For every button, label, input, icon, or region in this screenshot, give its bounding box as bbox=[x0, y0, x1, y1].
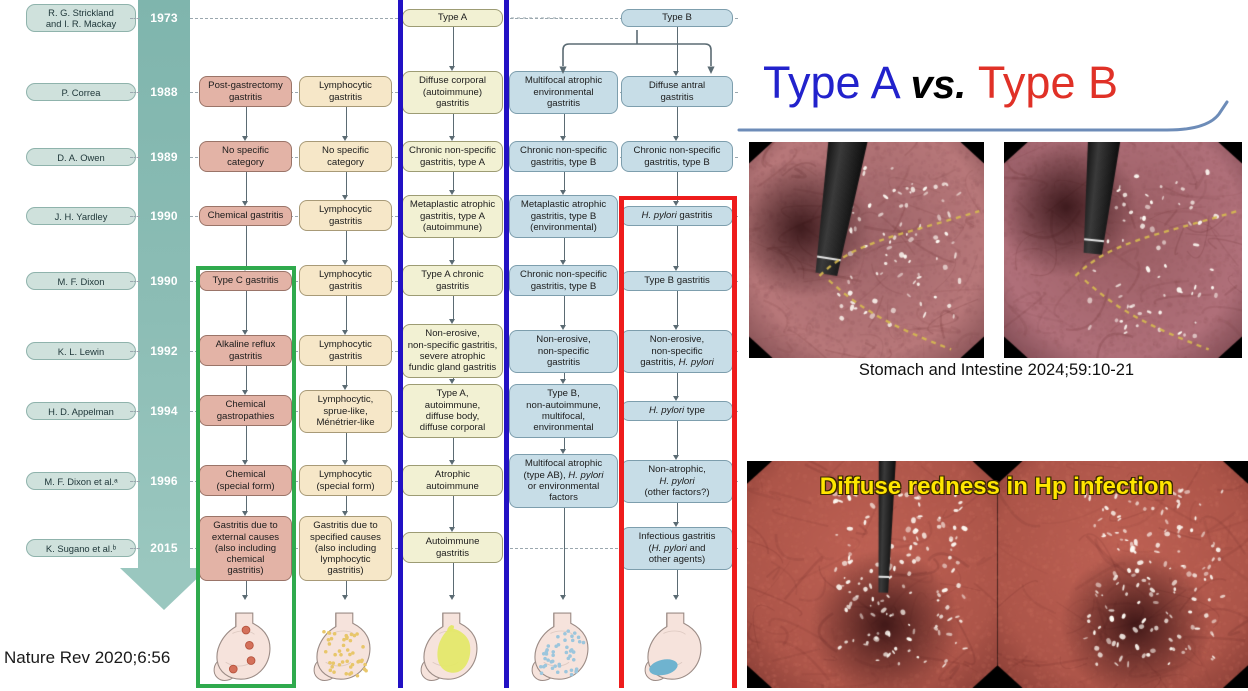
flow-box-label: Chronic non-specificgastritis, type B bbox=[520, 269, 607, 291]
flow-arrow-head bbox=[342, 511, 348, 516]
flow-arrow-head bbox=[560, 260, 566, 265]
dash-connector-left-6 bbox=[130, 351, 140, 352]
flow-arrow bbox=[564, 438, 565, 449]
flow-box-lymphocytic-8[interactable]: Lymphocytic(special form) bbox=[299, 465, 392, 496]
flow-box-label: Gastritis due tospecified causes(also in… bbox=[310, 520, 381, 576]
flow-box-lymphocytic-4[interactable]: Lymphocyticgastritis bbox=[299, 200, 392, 231]
timeline-year-9: 2015 bbox=[138, 541, 190, 555]
flow-arrow-head bbox=[560, 136, 566, 141]
flow-box-label: No specificcategory bbox=[222, 145, 269, 167]
flow-arrow-to-stomach bbox=[346, 581, 347, 595]
type-b-branch-connector bbox=[0, 0, 745, 80]
flow-box-label: Multifocal atrophic(type AB), H. pylorio… bbox=[524, 458, 604, 503]
stomach-multifocal-blue-dots bbox=[518, 608, 610, 686]
timeline-author-9: K. Sugano et al.ᵇ bbox=[26, 539, 136, 557]
timeline-year-8: 1996 bbox=[138, 474, 190, 488]
timeline-author-2: P. Correa bbox=[26, 83, 136, 101]
flow-box-label: Multifocal atrophicenvironmentalgastriti… bbox=[525, 75, 602, 109]
title-block: Type A vs. Type B bbox=[745, 56, 1248, 118]
flow-box-type-b-environmental-6[interactable]: Non-erosive,non-specificgastritis bbox=[509, 330, 618, 373]
flow-box-label: No specificcategory bbox=[322, 145, 369, 167]
flow-box-label: Non-erosive,non-specificgastritis bbox=[536, 334, 590, 368]
highlight-frame-navy bbox=[398, 0, 509, 688]
endoscopy-image-type-a-right bbox=[1004, 142, 1242, 358]
flow-arrow-head bbox=[242, 201, 248, 206]
flow-box-lymphocytic-7[interactable]: Lymphocytic,sprue-like,Ménétrier-like bbox=[299, 390, 392, 433]
flow-box-label: Lymphocytic,sprue-like,Ménétrier-like bbox=[316, 394, 374, 428]
timeline-author-4: J. H. Yardley bbox=[26, 207, 136, 225]
flow-box-lymphocytic-3[interactable]: No specificcategory bbox=[299, 141, 392, 172]
flow-box-type-b-environmental-7[interactable]: Type B,non-autoimmune,multifocal,environ… bbox=[509, 384, 618, 438]
flow-arrow-head bbox=[342, 136, 348, 141]
stomach-focal-erosions bbox=[200, 608, 292, 686]
dash-connector-left-9 bbox=[130, 548, 140, 549]
flow-arrow-head bbox=[560, 325, 566, 330]
flow-arrow-head bbox=[560, 190, 566, 195]
source-note: Nature Rev 2020;6:56 bbox=[4, 648, 170, 668]
stomach-svg bbox=[407, 608, 499, 686]
flow-box-label: Lymphocyticgastritis bbox=[319, 204, 372, 226]
timeline-author-5: M. F. Dixon bbox=[26, 272, 136, 290]
caption-diffuse-redness: Diffuse redness in Hp infection bbox=[745, 473, 1248, 501]
flow-arrow bbox=[564, 296, 565, 325]
flow-arrow bbox=[346, 172, 347, 195]
flow-box-type-b-hpylori-3[interactable]: Chronic non-specificgastritis, type B bbox=[621, 141, 733, 172]
timeline-author-7: H. D. Appelman bbox=[26, 402, 136, 420]
flow-box-label: Type B,non-autoimmune,multifocal,environ… bbox=[526, 388, 601, 433]
timeline-year-4: 1990 bbox=[138, 209, 190, 223]
flow-box-type-b-environmental-8[interactable]: Multifocal atrophic(type AB), H. pylorio… bbox=[509, 454, 618, 508]
timeline-author-8: M. F. Dixon et al.ᵃ bbox=[26, 472, 136, 490]
title-underline-swoosh bbox=[737, 100, 1248, 134]
flow-arrow bbox=[346, 296, 347, 330]
flow-arrow-head bbox=[673, 136, 679, 141]
stomach-svg bbox=[631, 608, 723, 686]
flow-box-lymphocytic-5[interactable]: Lymphocyticgastritis bbox=[299, 265, 392, 296]
flow-arrow-head bbox=[342, 330, 348, 335]
flow-arrow-head bbox=[342, 195, 348, 200]
flow-arrow-to-stomach bbox=[564, 508, 565, 595]
flow-arrow bbox=[346, 366, 347, 385]
timeline-year-5: 1990 bbox=[138, 274, 190, 288]
timeline-year-7: 1994 bbox=[138, 404, 190, 418]
flow-arrow-head bbox=[560, 595, 566, 600]
endoscopy-panel: Type A vs. Type B Stomach and Intestine … bbox=[745, 0, 1248, 688]
flow-box-label: Chronic non-specificgastritis, type B bbox=[634, 145, 721, 167]
flow-arrow-head bbox=[242, 136, 248, 141]
flow-arrow-head bbox=[342, 260, 348, 265]
flow-box-label: Diffuse antralgastritis bbox=[649, 80, 705, 102]
timeline-arrowhead bbox=[120, 568, 208, 610]
stomach-diffuse-yellow-dots bbox=[300, 608, 392, 686]
flow-box-label: Post-gastrectomygastritis bbox=[208, 80, 283, 102]
slide-root: R. G. Stricklandand I. R. Mackay1973P. C… bbox=[0, 0, 1248, 688]
flow-box-type-b-environmental-5[interactable]: Chronic non-specificgastritis, type B bbox=[509, 265, 618, 296]
endoscopy-image-type-a-left bbox=[749, 142, 984, 358]
flow-box-chemical-3[interactable]: No specificcategory bbox=[199, 141, 292, 172]
timeline-year-6: 1992 bbox=[138, 344, 190, 358]
flow-box-chemical-2[interactable]: Post-gastrectomygastritis bbox=[199, 76, 292, 107]
stomach-svg bbox=[518, 608, 610, 686]
flow-arrow-head bbox=[342, 595, 348, 600]
flow-box-type-b-hpylori-2[interactable]: Diffuse antralgastritis bbox=[621, 76, 733, 107]
dash-connector-left-5 bbox=[130, 281, 140, 282]
flow-arrow-head bbox=[560, 379, 566, 384]
stomach-svg bbox=[200, 608, 292, 686]
flow-box-label: Lymphocyticgastritis bbox=[319, 339, 372, 361]
flow-arrow bbox=[564, 172, 565, 190]
stomach-corporal-yellow-field bbox=[407, 608, 499, 686]
flow-arrow-head bbox=[342, 385, 348, 390]
flow-arrow bbox=[346, 107, 347, 136]
flow-box-label: Chronic non-specificgastritis, type B bbox=[520, 145, 607, 167]
flow-box-label: Chemical gastritis bbox=[208, 210, 284, 221]
timeline-year-3: 1989 bbox=[138, 150, 190, 164]
flow-box-label: Lymphocytic(special form) bbox=[316, 469, 374, 491]
flow-arrow bbox=[346, 433, 347, 460]
dash-connector-left-8 bbox=[130, 481, 140, 482]
stomach-svg bbox=[300, 608, 392, 686]
flow-box-label: Metaplastic atrophicgastritis, type B(en… bbox=[521, 199, 606, 233]
flow-arrow bbox=[246, 172, 247, 201]
stomach-antral-blue-field bbox=[631, 608, 723, 686]
flow-arrow bbox=[246, 226, 247, 266]
flow-arrow bbox=[246, 107, 247, 136]
flow-arrow bbox=[564, 238, 565, 260]
flow-box-label: Lymphocyticgastritis bbox=[319, 269, 372, 291]
flow-box-lymphocytic-6[interactable]: Lymphocyticgastritis bbox=[299, 335, 392, 366]
dash-connector-left-2 bbox=[130, 92, 140, 93]
flow-arrow bbox=[346, 496, 347, 511]
dash-connector-left-4 bbox=[130, 216, 140, 217]
flow-arrow bbox=[677, 107, 678, 136]
flow-box-type-b-environmental-3[interactable]: Chronic non-specificgastritis, type B bbox=[509, 141, 618, 172]
gastritis-classification-flowchart: R. G. Stricklandand I. R. Mackay1973P. C… bbox=[0, 0, 745, 688]
flow-box-lymphocytic-9[interactable]: Gastritis due tospecified causes(also in… bbox=[299, 516, 392, 581]
flow-arrow-head bbox=[342, 460, 348, 465]
flow-arrow bbox=[346, 231, 347, 260]
timeline-year-2: 1988 bbox=[138, 85, 190, 99]
flow-arrow-head bbox=[560, 449, 566, 454]
flow-box-lymphocytic-2[interactable]: Lymphocyticgastritis bbox=[299, 76, 392, 107]
timeline-author-3: D. A. Owen bbox=[26, 148, 136, 166]
flow-box-chemical-4[interactable]: Chemical gastritis bbox=[199, 206, 292, 226]
dash-connector-left-3 bbox=[130, 157, 140, 158]
dash-connector-left-7 bbox=[130, 411, 140, 412]
timeline-author-6: K. L. Lewin bbox=[26, 342, 136, 360]
caption-top: Stomach and Intestine 2024;59:10-21 bbox=[745, 361, 1248, 380]
flow-arrow bbox=[564, 114, 565, 136]
flow-box-type-b-environmental-4[interactable]: Metaplastic atrophicgastritis, type B(en… bbox=[509, 195, 618, 238]
flow-box-label: Lymphocyticgastritis bbox=[319, 80, 372, 102]
